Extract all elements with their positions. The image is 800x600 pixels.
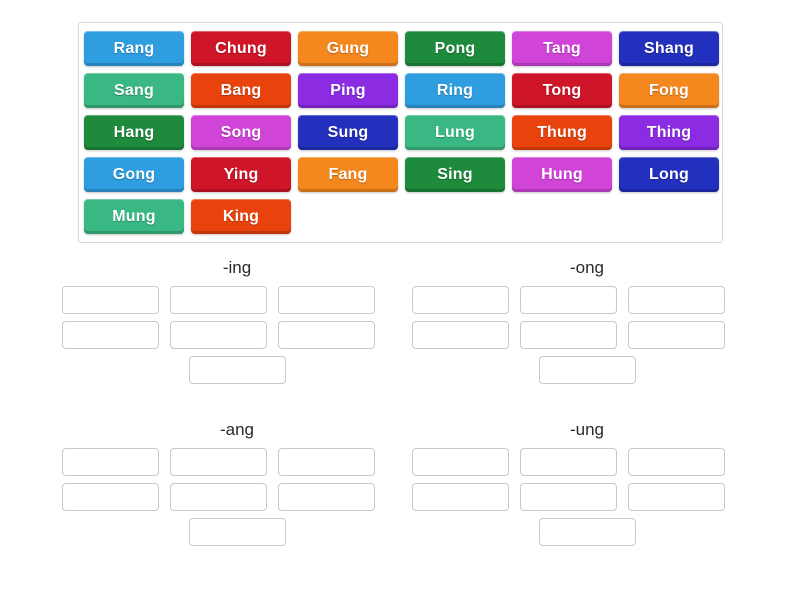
drop-slot-ung-0-0[interactable] (412, 448, 509, 476)
drop-slot-ang-1-2[interactable] (278, 483, 375, 511)
drop-slot-ang-0-2[interactable] (278, 448, 375, 476)
drop-slot-ang-0-0[interactable] (62, 448, 159, 476)
word-tile-hang[interactable]: Hang (84, 115, 184, 150)
word-tile-bang[interactable]: Bang (191, 73, 291, 108)
drop-zone-ing[interactable] (62, 286, 412, 384)
slot-row (62, 518, 412, 546)
word-tile-gong[interactable]: Gong (84, 157, 184, 192)
word-tile-ying[interactable]: Ying (191, 157, 291, 192)
drop-slot-ing-0-1[interactable] (170, 286, 267, 314)
word-bank: RangChungGungPongTangShangSangBangPingRi… (78, 22, 723, 243)
word-tile-king[interactable]: King (191, 199, 291, 234)
slot-row (412, 321, 762, 349)
word-tile-hung[interactable]: Hung (512, 157, 612, 192)
word-tile-chung[interactable]: Chung (191, 31, 291, 66)
tile-row: HangSongSungLungThungThing (84, 115, 722, 150)
drop-slot-ung-1-1[interactable] (520, 483, 617, 511)
drop-slot-ong-2-0[interactable] (539, 356, 636, 384)
drop-slot-ang-0-1[interactable] (170, 448, 267, 476)
category-title-ong: -ong (412, 256, 762, 280)
word-tile-rang[interactable]: Rang (84, 31, 184, 66)
slot-row (62, 286, 412, 314)
drop-slot-ing-1-2[interactable] (278, 321, 375, 349)
drop-slot-ong-1-0[interactable] (412, 321, 509, 349)
word-tile-sang[interactable]: Sang (84, 73, 184, 108)
slot-row (62, 356, 412, 384)
tile-row: RangChungGungPongTangShang (84, 31, 722, 66)
word-tile-sing[interactable]: Sing (405, 157, 505, 192)
drop-slot-ung-1-2[interactable] (628, 483, 725, 511)
tile-row: SangBangPingRingTongFong (84, 73, 722, 108)
word-tile-shang[interactable]: Shang (619, 31, 719, 66)
tile-row: MungKing (84, 199, 722, 234)
category-ong: -ong (412, 256, 762, 391)
word-tile-mung[interactable]: Mung (84, 199, 184, 234)
drop-slot-ong-1-1[interactable] (520, 321, 617, 349)
slot-row (412, 356, 762, 384)
drop-slot-ung-0-2[interactable] (628, 448, 725, 476)
drop-slot-ong-0-0[interactable] (412, 286, 509, 314)
drop-slot-ung-2-0[interactable] (539, 518, 636, 546)
drop-slot-ong-0-1[interactable] (520, 286, 617, 314)
tile-row: GongYingFangSingHungLong (84, 157, 722, 192)
drop-slot-ung-1-0[interactable] (412, 483, 509, 511)
word-tile-thung[interactable]: Thung (512, 115, 612, 150)
drop-slot-ing-2-0[interactable] (189, 356, 286, 384)
drop-slot-ang-1-0[interactable] (62, 483, 159, 511)
category-ung: -ung (412, 418, 762, 553)
category-ang: -ang (62, 418, 412, 553)
word-tile-thing[interactable]: Thing (619, 115, 719, 150)
slot-row (412, 286, 762, 314)
word-tile-song[interactable]: Song (191, 115, 291, 150)
word-tile-fong[interactable]: Fong (619, 73, 719, 108)
word-tile-lung[interactable]: Lung (405, 115, 505, 150)
drop-zone-ang[interactable] (62, 448, 412, 546)
word-tile-fang[interactable]: Fang (298, 157, 398, 192)
drop-slot-ong-1-2[interactable] (628, 321, 725, 349)
drop-slot-ing-1-1[interactable] (170, 321, 267, 349)
word-tile-pong[interactable]: Pong (405, 31, 505, 66)
category-ing: -ing (62, 256, 412, 391)
word-tile-sung[interactable]: Sung (298, 115, 398, 150)
category-title-ung: -ung (412, 418, 762, 442)
drop-slot-ing-0-2[interactable] (278, 286, 375, 314)
drop-slot-ing-0-0[interactable] (62, 286, 159, 314)
word-tile-tong[interactable]: Tong (512, 73, 612, 108)
slot-row (412, 483, 762, 511)
word-tile-ring[interactable]: Ring (405, 73, 505, 108)
slot-row (62, 321, 412, 349)
word-tile-ping[interactable]: Ping (298, 73, 398, 108)
drop-slot-ong-0-2[interactable] (628, 286, 725, 314)
category-title-ing: -ing (62, 256, 412, 280)
drop-zone-ong[interactable] (412, 286, 762, 384)
slot-row (412, 448, 762, 476)
slot-row (62, 483, 412, 511)
drop-zone-ung[interactable] (412, 448, 762, 546)
category-title-ang: -ang (62, 418, 412, 442)
drop-slot-ang-2-0[interactable] (189, 518, 286, 546)
drop-slot-ing-1-0[interactable] (62, 321, 159, 349)
slot-row (412, 518, 762, 546)
slot-row (62, 448, 412, 476)
word-tile-tang[interactable]: Tang (512, 31, 612, 66)
word-tile-long[interactable]: Long (619, 157, 719, 192)
word-tile-gung[interactable]: Gung (298, 31, 398, 66)
drop-slot-ang-1-1[interactable] (170, 483, 267, 511)
drop-slot-ung-0-1[interactable] (520, 448, 617, 476)
